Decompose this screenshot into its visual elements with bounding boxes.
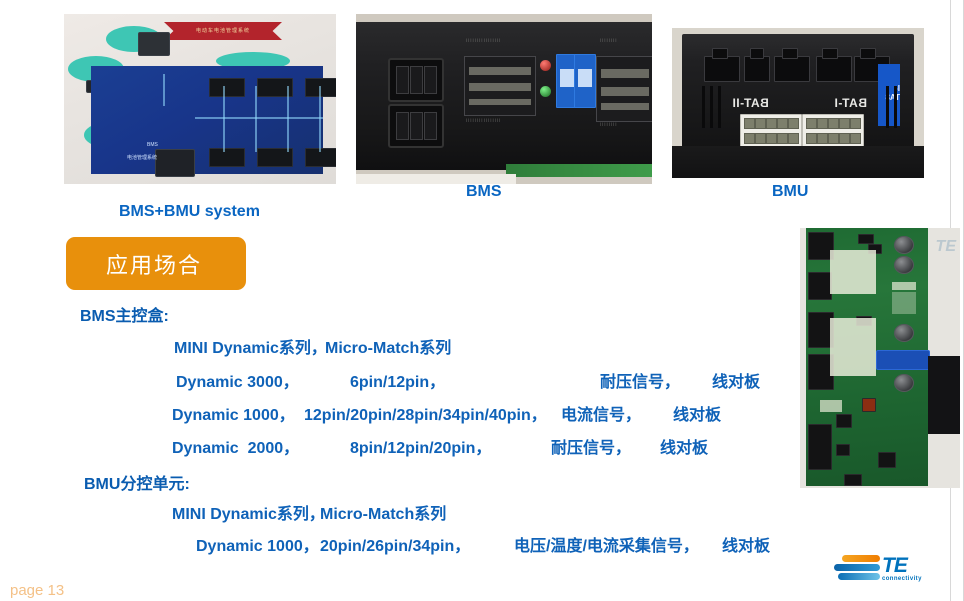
poster-diagram-board: BMS 电池管理系统 <box>91 66 323 174</box>
poster-module <box>209 78 245 97</box>
bmu-connector <box>704 56 740 82</box>
bmu-row-1-series: Dynamic 1000， <box>196 532 319 556</box>
bmu-keying-tab <box>712 48 728 59</box>
bms-row-3-signal: 耐压信号， <box>551 434 631 458</box>
bmu-vent-slot <box>710 86 713 128</box>
caption-bms: BMS <box>466 183 502 201</box>
bms-bmu-poster-photo: 电动车电池管理系统 BMS 电池管理系统 <box>64 14 336 184</box>
bmu-white-connector-1 <box>802 114 864 148</box>
poster-branch <box>223 86 225 152</box>
bms-row-1-type: 线对板 <box>712 368 760 392</box>
bmu-blue-label-text: I-TA8 <box>881 84 900 102</box>
bms-power-connector-top <box>388 58 444 102</box>
section-badge-application-scenarios: 应用场合 <box>66 237 246 290</box>
bmu-keying-tab <box>750 48 764 59</box>
poster-branch <box>319 86 321 152</box>
te-logo-wordmark: TE <box>882 554 907 578</box>
pcb-right-shadow <box>928 356 960 434</box>
bms-io-header <box>596 56 652 122</box>
bms-row-3-type: 线对板 <box>660 434 708 458</box>
bmu-keying-tab <box>822 48 838 59</box>
bmu-row-1-signal: 电压/温度/电流采集信号， <box>514 532 699 556</box>
section-badge-label: 应用场合 <box>106 248 202 280</box>
caption-bmu: BMU <box>772 183 808 201</box>
bms-chassis: | | | | | | | | | | | | | | | | | | | | … <box>356 22 652 170</box>
bmu-keying-tab <box>782 48 798 59</box>
bms-row-1-series: Dynamic 3000， <box>176 368 299 392</box>
poster-branch <box>287 86 289 152</box>
bms-row-2-series: Dynamic 1000， <box>172 401 295 425</box>
bmu-keying-tab <box>860 48 876 59</box>
te-logo-bar-blue-2 <box>838 573 880 580</box>
te-logo-tagline: connectivity <box>882 576 922 582</box>
pcb-board-photo: TE <box>800 228 960 488</box>
bmu-row-1-type: 线对板 <box>722 532 770 556</box>
poster-branch <box>255 86 257 152</box>
bmu-connector <box>816 56 852 82</box>
bms-green-background-strip <box>506 164 652 177</box>
bmu-silk-bat-2: BAT-II <box>732 96 769 110</box>
poster-bms-unit <box>155 149 195 177</box>
poster-sub-label: 电池管理系统 <box>127 154 157 161</box>
bmu-row-0-pins: Micro-Match系列 <box>320 500 446 524</box>
bmu-silk-bat-1: BAT-I <box>834 96 867 110</box>
bmu-row-0-series: MINI Dynamic系列， <box>172 500 325 524</box>
bmu-connector <box>744 56 770 82</box>
bmu-vent-slot <box>702 86 705 128</box>
bmu-row-1-pins: 20pin/26pin/34pin， <box>320 532 470 556</box>
bmu-vent-slot <box>886 86 889 128</box>
bms-row-0-pins: Micro-Match系列 <box>325 334 451 358</box>
caption-bms-bmu-system: BMS+BMU system <box>119 203 260 221</box>
pcb-te-watermark: TE <box>936 238 956 256</box>
bms-led-red <box>540 60 551 71</box>
bms-row-3-pins: 8pin/12pin/20pin， <box>350 434 491 458</box>
page-number: page 13 <box>10 582 64 599</box>
poster-module <box>209 148 245 167</box>
bmu-base-rail <box>672 146 924 178</box>
poster-banner: 电动车电池管理系统 <box>164 22 282 40</box>
bms-section-heading: BMS主控盒: <box>80 302 169 326</box>
bmu-module-photo: BAT-II BAT-I <box>672 28 924 178</box>
bms-row-1-pins: 6pin/12pin， <box>350 368 445 392</box>
bmu-vent-slot <box>718 86 721 128</box>
bms-row-2-type: 线对板 <box>673 401 721 425</box>
bmu-section-heading: BMU分控单元: <box>84 470 190 494</box>
poster-bus-line <box>195 117 323 119</box>
bms-row-1-signal: 耐压信号， <box>600 368 680 392</box>
te-logo-bar-orange <box>842 555 880 562</box>
bms-blue-terminal-2 <box>574 54 596 108</box>
bms-led-green <box>540 86 551 97</box>
bmu-vent-slot <box>894 86 897 128</box>
poster-main-label: BMS <box>147 142 158 148</box>
poster-banner-text: 电动车电池管理系统 <box>164 22 282 40</box>
bmu-white-connector-2 <box>740 114 802 148</box>
bms-signal-header <box>464 56 536 116</box>
pcb-substrate <box>806 228 928 486</box>
te-connectivity-logo: TE connectivity <box>830 552 940 590</box>
poster-chip-controller <box>138 32 170 56</box>
bms-row-2-pins: 12pin/20pin/28pin/34pin/40pin， <box>304 401 547 425</box>
bms-row-0-series: MINI Dynamic系列， <box>174 334 327 358</box>
bms-power-connector-bottom <box>388 104 444 148</box>
pcb-blue-connector <box>876 350 930 370</box>
te-logo-bar-blue-1 <box>834 564 880 571</box>
poster-branch <box>163 74 165 106</box>
bms-controller-photo: | | | | | | | | | | | | | | | | | | | | … <box>356 14 652 184</box>
bmu-connector <box>774 56 810 82</box>
bms-row-3-series: Dynamic 2000， <box>172 434 299 458</box>
slide-canvas: 电动车电池管理系统 BMS 电池管理系统 <box>0 0 964 601</box>
bms-row-2-signal: 电流信号， <box>561 401 641 425</box>
